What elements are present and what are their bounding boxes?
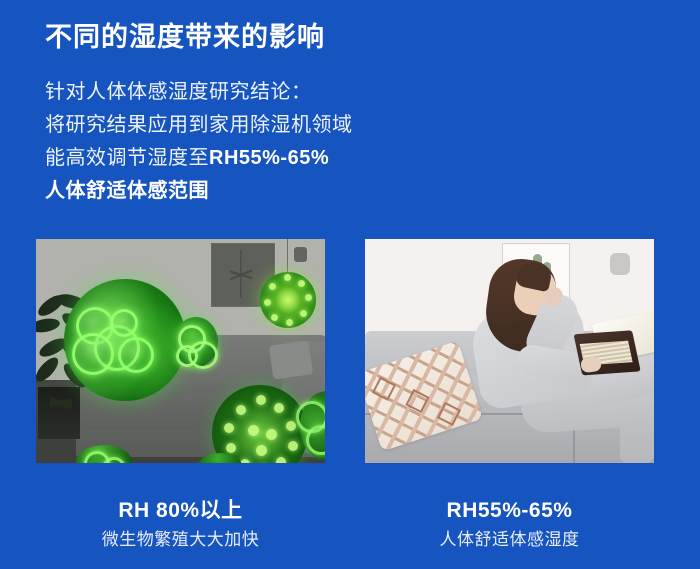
photo-high-humidity [36,239,325,463]
virus-spike [286,421,296,431]
microbe-cell [306,425,325,455]
virus-spike [288,441,298,451]
intro-line-1: 针对人体体感湿度研究结论： [45,76,353,109]
virus-spike [248,425,259,436]
bright-room-scene [365,239,654,463]
microbe-cell [110,309,138,337]
virus-spike [305,294,312,301]
caption-main-right: RH55%-65% [365,498,654,524]
pillow-motif [405,389,429,413]
dim-room-scene [36,239,325,463]
microbe-cell [72,333,114,375]
microbe-cell [176,345,198,367]
intro-line-2: 将研究结果应用到家用除湿机领域 [45,109,353,142]
virus-spike [256,395,266,405]
microbe-cell [118,337,154,373]
caption-sub-left: 微生物繁殖大大加快 [36,527,325,553]
virus-spike [286,319,293,326]
caption-sub-right: 人体舒适体感湿度 [365,527,654,553]
intro-line-3: 能高效调节湿度至RH55%-65% [45,142,353,175]
intro-line-3-prefix: 能高效调节湿度至 [45,147,209,169]
pillow-motif [372,377,396,401]
caption-high-humidity: RH 80%以上 微生物繁殖大大加快 [36,498,325,553]
hanging-wire [287,239,288,273]
virus-spike [274,403,284,413]
virus-sphere-hanging [260,272,316,328]
virus-spike [236,405,246,415]
virus-spike [224,423,234,433]
caption-main-left: RH 80%以上 [36,498,325,524]
humidity-comparison-poster: 不同的湿度带来的影响 针对人体体感湿度研究结论： 将研究结果应用到家用除湿机领域… [0,0,700,569]
virus-spike [269,283,276,290]
caption-comfort-humidity: RH55%-65% 人体舒适体感湿度 [365,498,654,553]
virus-spike [226,443,236,453]
virus-spike [284,274,291,281]
microbe-cluster-large [64,279,186,401]
pillow-motif [437,402,461,426]
virus-spike [264,299,271,306]
photo-comfort-humidity [365,239,654,463]
virus-spike [266,429,277,440]
virus-spike [256,445,267,456]
intro-line-4: 人体舒适体感范围 [45,175,353,208]
virus-spike [300,310,307,317]
page-title: 不同的湿度带来的影响 [45,18,325,56]
humidity-range-highlight: RH55%-65% [209,147,329,169]
virus-spike [298,280,305,287]
microbe-cluster-edge [174,317,218,367]
intro-paragraph: 针对人体体感湿度研究结论： 将研究结果应用到家用除湿机领域 能高效调节湿度至RH… [45,76,353,208]
virus-spike [276,457,286,463]
virus-spike [271,314,278,321]
woman-reading [461,257,654,443]
